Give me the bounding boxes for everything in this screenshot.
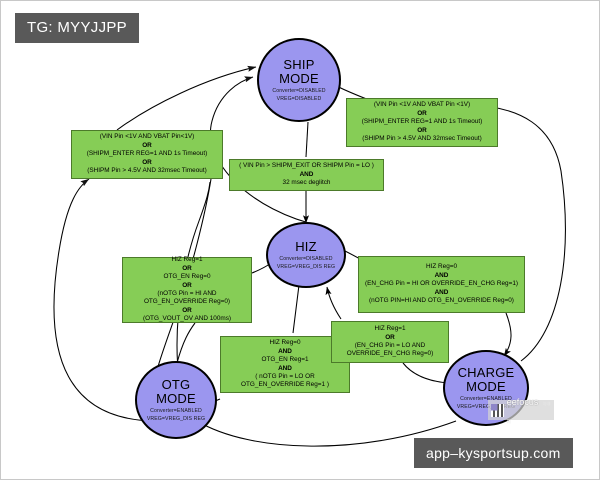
condition-box-charge-to-hiz[interactable]: HIZ Reg=1 OR (EN_CHG Pin = LO AND OVERRI… [331,321,449,363]
condition-line: (SHIPM Pin > 4.5V AND 32msec Timeout) [351,135,493,143]
state-node-otg-mode[interactable]: OTG MODE Converter=ENABLED VREG=VREG_DIS… [135,361,217,439]
condition-line: AND [225,365,345,373]
state-node-ship-mode[interactable]: SHIP MODE Converter=DISABLED VREG=DISABL… [257,38,341,122]
state-sub-line2: VREG=VREG_DIS REG [147,416,205,422]
condition-line: (OTG_VOUT_OV AND 100ms) [127,315,247,323]
condition-box-ship-to-hiz[interactable]: ( VIN Pin > SHIPM_EXIT OR SHIPM Pin = LO… [229,159,384,191]
state-title-line2: MODE [156,392,196,406]
state-sub-line2: VREG=DISABLED [277,96,322,102]
condition-line: (SHIPM_ENTER REG=1 AND 1s Timeout) [76,150,218,158]
condition-line: (nOTG Pin = HI AND [127,290,247,298]
state-sub-line1: Converter=DISABLED [272,88,325,94]
condition-line: OR [127,265,247,273]
condition-line: (SHIPM_ENTER REG=1 AND 1s Timeout) [351,118,493,126]
condition-line: OTG_EN Reg=0 [127,273,247,281]
condition-line: OTG_EN Reg=1 [225,356,345,364]
condition-line: AND [234,171,379,179]
condition-line: OR [351,127,493,135]
condition-line: 32 msec deglitch [234,179,379,187]
condition-line: OR [336,334,444,342]
condition-line: OTG_EN_OVERRIDE Reg=1 ) [225,381,345,389]
condition-box-enter-ship-left[interactable]: (VIN Pin <1V AND VBAT Pin<1V) OR (SHIPM_… [71,130,223,179]
condition-line: (nOTG PIN=HI AND OTG_EN_OVERRIDE Reg=0) [363,297,520,305]
condition-line: AND [363,289,520,297]
condition-line: (VIN Pin <1V AND VBAT Pin<1V) [76,133,218,141]
state-sub-line1: Converter=ENABLED [150,408,202,414]
state-title-line1: HIZ [295,240,317,254]
state-title-line2: MODE [279,72,319,86]
state-sub-line1: Converter=DISABLED [279,256,332,262]
condition-line: (SHIPM Pin > 4.5V AND 32msec Timeout) [76,167,218,175]
tg-tag-overlay: TG: MYYJJPP [15,13,139,43]
condition-line: OR [127,282,247,290]
condition-box-otg-to-hiz[interactable]: HIZ Reg=1 OR OTG_EN Reg=0 OR (nOTG Pin =… [122,257,252,323]
edge-charge-cond-to-charge [504,313,511,356]
url-watermark-overlay: app–kysportsup.com [414,438,573,468]
condition-line: ( nOTG Pin = LO OR [225,373,345,381]
condition-line: AND [363,272,520,280]
condition-box-enter-ship-right[interactable]: (VIN Pin <1V AND VBAT Pin <1V) OR (SHIPM… [346,98,498,147]
condition-line: HIZ Reg=1 [336,325,444,333]
condition-line: AND [225,348,345,356]
edge-hiz-cond-to-hiz [327,287,341,319]
state-title-line2: MODE [466,380,506,394]
condition-line: OR [76,142,218,150]
edge-ship-to-condition [306,122,308,157]
eefocus-logo-text-wrap: eefocus 与非网 [507,392,554,428]
state-diagram-canvas: SHIP MODE Converter=DISABLED VREG=DISABL… [0,0,600,480]
condition-line: OR [351,110,493,118]
condition-line: OR [76,159,218,167]
condition-line: (EN_CHG Pin = LO AND [336,342,444,350]
condition-line: (VIN Pin <1V AND VBAT Pin <1V) [351,101,493,109]
condition-line: OVERRIDE_EN_CHG Reg=0) [336,350,444,358]
edge-hiz-to-otg-cond [293,285,299,333]
condition-line: OR [127,307,247,315]
eefocus-brand-label: eefocus [507,397,539,407]
eefocus-watermark: eefocus 与非网 [488,400,554,420]
condition-line: ( VIN Pin > SHIPM_EXIT OR SHIPM Pin = LO… [234,162,379,170]
state-title-line1: CHARGE [458,366,515,380]
edge-otg-to-otg-cond [177,323,195,363]
state-sub-line2: VREG=VREG_DIS REG [277,264,335,270]
state-title-line1: OTG [162,378,191,392]
state-node-hiz[interactable]: HIZ Converter=DISABLED VREG=VREG_DIS REG [266,222,346,288]
condition-line: HIZ Reg=1 [127,256,247,264]
condition-line: HIZ Reg=0 [363,263,520,271]
eefocus-logo-icon [491,404,504,417]
edge-enter-ship-left-to-ship [117,67,256,130]
condition-box-hiz-to-charge[interactable]: HIZ Reg=0 AND (EN_CHG Pin = HI OR OVERRI… [358,256,525,313]
edge-charge-to-hiz-cond [403,363,448,383]
condition-line: (EN_CHG Pin = HI OR OVERRIDE_EN_CHG Reg=… [363,280,520,288]
condition-line: HIZ Reg=0 [225,339,345,347]
condition-line: OTG_EN_OVERRIDE Reg=0) [127,298,247,306]
state-title-line1: SHIP [283,58,314,72]
